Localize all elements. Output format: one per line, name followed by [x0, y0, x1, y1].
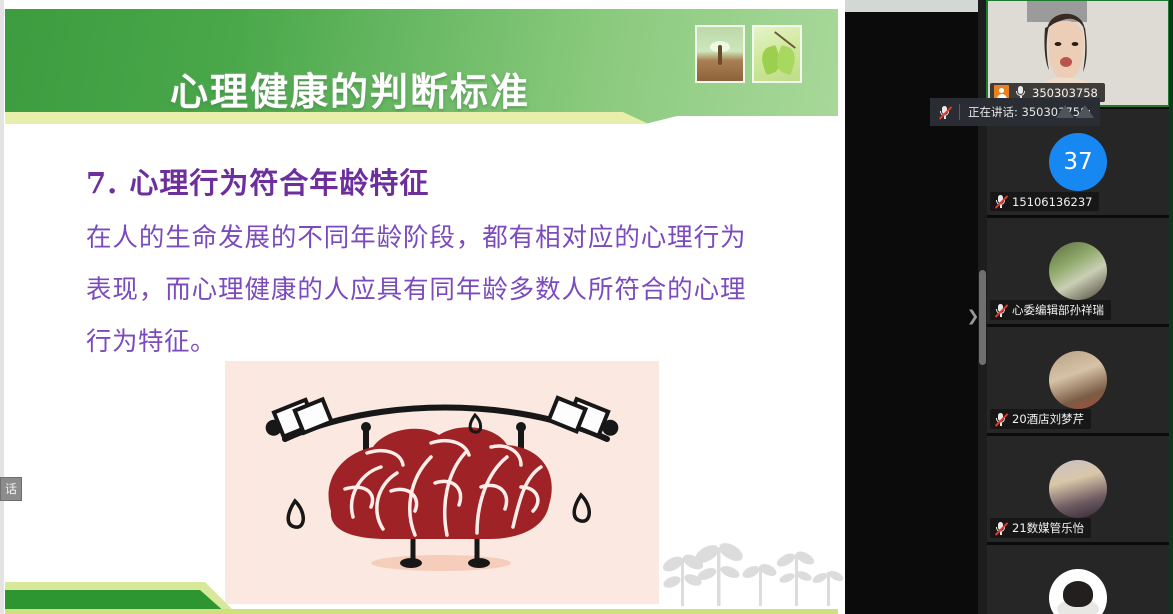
panel-right-edge — [1169, 0, 1173, 614]
participant-label: 15106136237 — [990, 192, 1099, 211]
participant-tile[interactable]: 20酒店刘梦芹 — [987, 327, 1169, 433]
toast-divider — [959, 104, 960, 120]
participant-name: 21数媒管乐怡 — [1012, 520, 1084, 536]
plant-silhouettes — [655, 542, 845, 606]
slide-left-border — [0, 0, 4, 614]
leaf-stem-icon — [772, 29, 794, 51]
participant-tile[interactable]: 21数媒管乐怡 — [987, 436, 1169, 542]
participant-tile[interactable]: 心委编辑部孙祥瑞 — [987, 218, 1169, 324]
scrollbar-thumb[interactable] — [979, 270, 986, 365]
participant-label: 21数媒管乐怡 — [990, 518, 1091, 538]
avatar — [1049, 351, 1107, 409]
sound-wave-icon — [1056, 105, 1094, 118]
bottom-rule — [5, 609, 838, 614]
participant-tile[interactable]: 350303758 — [987, 0, 1169, 106]
participant-label: 20酒店刘梦芹 — [990, 409, 1091, 429]
slide-header-band: 心理健康的判断标准 — [5, 9, 838, 124]
slide-heading: 7. 心理行为符合年龄特征 — [86, 160, 429, 202]
participant-count-badge: 37 — [1049, 133, 1107, 191]
chat-tab-handle[interactable]: 话 — [0, 477, 22, 501]
slide-header-thumbnails — [695, 25, 802, 83]
participant-label: 心委编辑部孙祥瑞 — [990, 300, 1111, 320]
participant-name: 15106136237 — [1012, 195, 1092, 209]
speaking-toast: 正在讲话: 350303758; — [930, 98, 1100, 126]
panel-scrollbar[interactable] — [978, 0, 987, 614]
avatar — [1049, 569, 1107, 614]
participant-name: 20酒店刘梦芹 — [1012, 411, 1084, 427]
avatar — [1049, 460, 1107, 518]
participant-name: 心委编辑部孙祥瑞 — [1012, 302, 1104, 318]
brain-illustration — [225, 361, 659, 604]
slide-title: 心理健康的判断标准 — [5, 61, 695, 116]
brain-barbell-icon — [225, 361, 659, 604]
mic-muted-icon — [994, 194, 1007, 209]
avatar — [1049, 242, 1107, 300]
meeting-screen-share-window: 心理健康的判断标准 7. 心理行为符合年龄特征 在人的生命发展的不同年龄阶段，都… — [0, 0, 1173, 614]
mic-muted-icon — [994, 521, 1007, 536]
shared-slide-area: 心理健康的判断标准 7. 心理行为符合年龄特征 在人的生命发展的不同年龄阶段，都… — [0, 0, 845, 614]
panel-top-strip — [845, 0, 987, 12]
slide-paragraph: 在人的生命发展的不同年龄阶段，都有相对应的心理行为表现，而心理健康的人应具有同年… — [86, 212, 746, 368]
participants-panel: ❯ — [845, 0, 1173, 614]
mic-muted-icon — [994, 303, 1007, 318]
seedling-photo-icon — [695, 25, 745, 83]
participant-tile[interactable] — [987, 545, 1169, 614]
mic-muted-icon — [938, 105, 951, 120]
mic-muted-icon — [994, 412, 1007, 427]
participant-tile-list: 350303758 37 15106136237 — [987, 0, 1173, 614]
green-leaves-photo-icon — [752, 25, 802, 83]
